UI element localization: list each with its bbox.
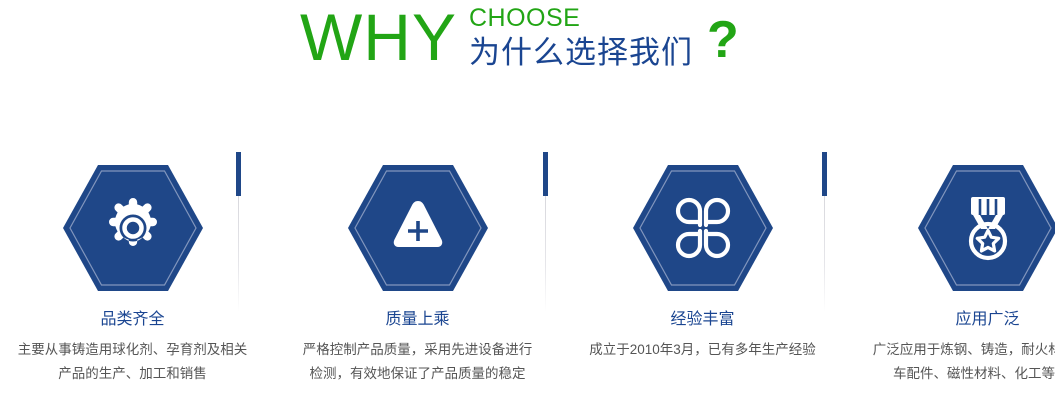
feature-description: 广泛应用于炼钢、铸造，耐火材料、汽车配件、磁性材料、化工等行业 xyxy=(855,338,1055,386)
feature-item: 品类齐全 主要从事铸造用球化剂、孕育剂及相关产品的生产、加工和销售 xyxy=(0,150,265,386)
feature-item: 应用广泛 广泛应用于炼钢、铸造，耐火材料、汽车配件、磁性材料、化工等行业 xyxy=(855,150,1055,386)
clover-icon xyxy=(633,165,773,291)
heading-chinese-text: 为什么选择我们 xyxy=(469,34,693,72)
feature-title: 经验丰富 xyxy=(570,309,835,331)
feature-title: 品类齐全 xyxy=(0,309,265,331)
triangle-plus-icon xyxy=(348,165,488,291)
heading-text-stack: CHOOSE 为什么选择我们 xyxy=(469,0,693,72)
section-heading: WHY CHOOSE 为什么选择我们 ? xyxy=(0,0,1055,95)
feature-description: 严格控制产品质量，采用先进设备进行检测，有效地保证了产品质量的稳定 xyxy=(285,338,550,386)
heading-choose-text: CHOOSE xyxy=(469,4,693,32)
medal-icon xyxy=(918,165,1055,291)
feature-title: 质量上乘 xyxy=(285,309,550,331)
feature-list: 品类齐全 主要从事铸造用球化剂、孕育剂及相关产品的生产、加工和销售 质量上乘 严… xyxy=(0,150,1055,416)
feature-item: 质量上乘 严格控制产品质量，采用先进设备进行检测，有效地保证了产品质量的稳定 xyxy=(285,150,550,386)
feature-title: 应用广泛 xyxy=(855,309,1055,331)
heading-question-mark: ? xyxy=(707,0,739,68)
feature-description: 主要从事铸造用球化剂、孕育剂及相关产品的生产、加工和销售 xyxy=(0,338,265,386)
gear-icon xyxy=(63,165,203,291)
feature-item: 经验丰富 成立于2010年3月，已有多年生产经验 xyxy=(570,150,835,362)
feature-description: 成立于2010年3月，已有多年生产经验 xyxy=(570,338,835,362)
heading-why-text: WHY xyxy=(300,0,457,74)
why-choose-us-section: WHY CHOOSE 为什么选择我们 ? xyxy=(0,0,1055,416)
